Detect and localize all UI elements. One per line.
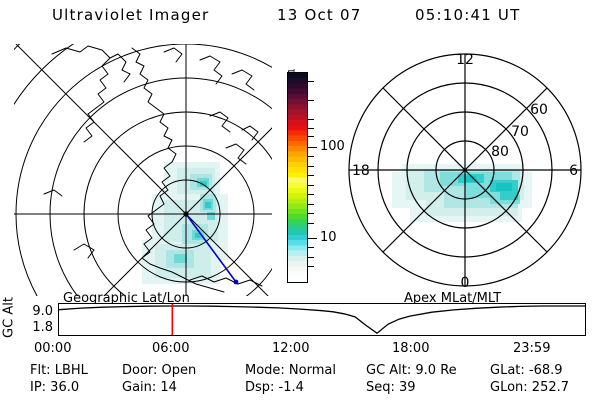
colorbar-minor-tick xyxy=(308,166,314,167)
colorbar-major-tick xyxy=(308,147,317,148)
altitude-axis-title: GC Alt xyxy=(2,295,17,341)
xtick-1800: 18:00 xyxy=(392,341,429,356)
mlat-label-60: 60 xyxy=(530,102,548,118)
colorbar-minor-tick xyxy=(308,136,314,137)
mlat-label-70: 70 xyxy=(511,124,529,140)
status-dsp: Dsp: -1.4 xyxy=(245,380,304,395)
xtick-0000: 00:00 xyxy=(34,341,71,356)
colorbar-minor-tick xyxy=(308,204,314,205)
colorbar-major-tick xyxy=(308,238,317,239)
status-block: Flt: LBHL Door: Open Mode: Normal GC Alt… xyxy=(0,363,600,399)
colorbar-minor-tick xyxy=(308,156,314,157)
mlat-label-80: 80 xyxy=(491,144,509,160)
geographic-panel[interactable] xyxy=(14,44,272,296)
status-seq: Seq: 39 xyxy=(366,380,416,395)
mlt-label-6: 6 xyxy=(569,163,578,179)
colorbar-minor-tick xyxy=(308,257,314,258)
observation-date: 13 Oct 07 xyxy=(277,6,361,24)
colorbar-minor-tick xyxy=(308,194,314,195)
colorbar-minor-tick xyxy=(308,213,314,214)
colorbar-minor-tick xyxy=(308,175,314,176)
mlt-label-12: 12 xyxy=(456,52,474,68)
altitude-trace-svg xyxy=(59,304,585,335)
colorbar-minor-tick xyxy=(308,247,314,248)
status-gc-alt: GC Alt: 9.0 Re xyxy=(366,363,457,378)
header-bar: Ultraviolet Imager 13 Oct 07 05:10:41 UT xyxy=(0,6,600,30)
xtick-2359: 23:59 xyxy=(513,341,550,356)
magnetic-dial-plot: 12 6 0 18 60 70 80 xyxy=(340,44,590,296)
status-glat: GLat: -68.9 xyxy=(490,363,563,378)
geographic-plot xyxy=(14,44,272,296)
mlt-label-0: 0 xyxy=(461,275,470,291)
status-ip: IP: 36.0 xyxy=(30,380,79,395)
instrument-title: Ultraviolet Imager xyxy=(52,6,209,24)
colorbar-gradient xyxy=(288,73,307,282)
mlt-spokes xyxy=(349,54,581,286)
colorbar-minor-tick xyxy=(308,81,314,82)
status-filter: Flt: LBHL xyxy=(30,363,88,378)
magnetic-panel[interactable]: 12 6 0 18 60 70 80 xyxy=(340,44,590,296)
altitude-timeline-plot[interactable] xyxy=(58,303,586,336)
status-door: Door: Open xyxy=(122,363,196,378)
xtick-0600: 06:00 xyxy=(152,341,189,356)
status-gain: Gain: 14 xyxy=(122,380,177,395)
altitude-trace xyxy=(59,306,585,333)
uv-imager-display: Ultraviolet Imager 13 Oct 07 05:10:41 UT xyxy=(0,0,600,400)
colorbar-minor-tick xyxy=(308,223,314,224)
mlt-label-18: 18 xyxy=(352,163,370,179)
altitude-ytick-min: 1.8 xyxy=(20,320,53,335)
xtick-1200: 12:00 xyxy=(272,341,309,356)
colorbar-minor-tick xyxy=(308,266,314,267)
status-mode: Mode: Normal xyxy=(245,363,336,378)
colorbar-minor-tick xyxy=(308,128,314,129)
observation-time: 05:10:41 UT xyxy=(415,6,520,24)
colorbar-minor-tick xyxy=(308,119,314,120)
colorbar-minor-tick xyxy=(308,185,314,186)
colorbar-minor-tick xyxy=(308,100,314,101)
colorbar-tick-label: 10 xyxy=(320,231,337,244)
colorbar-scale xyxy=(287,72,308,283)
status-glon: GLon: 252.7 xyxy=(490,380,569,395)
altitude-ytick-max: 9.0 xyxy=(20,304,53,319)
